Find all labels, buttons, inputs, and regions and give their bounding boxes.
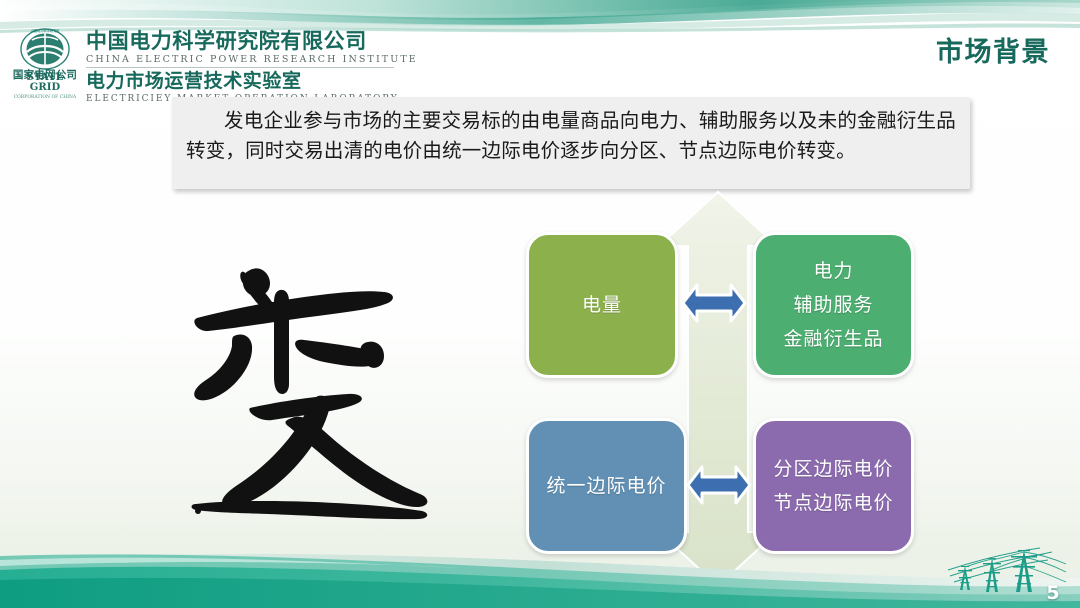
box-top-right-line-2: 金融衍生品: [783, 322, 883, 356]
box-top-right-line-0: 电力: [813, 254, 853, 288]
section-title: 市场背景: [936, 30, 1050, 69]
state-grid-globe-icon: 中国电力科学研究院: [19, 28, 71, 72]
slide-canvas: 中国电力科学研究院 国家电网公司 STATE GRID CORPORATION …: [0, 0, 1080, 608]
change-calligraphy: [172, 232, 452, 522]
double-arrow-icon-top: [680, 278, 748, 328]
paragraph-text: 发电企业参与市场的主要交易标的由电量商品向电力、辅助服务以及未的金融衍生品转变，…: [186, 106, 956, 166]
box-bottom-left-line-0: 统一边际电价: [546, 469, 666, 503]
lab-name-cn: 电力市场运营技术实验室: [86, 70, 399, 93]
box-top-left-line-0: 电量: [582, 288, 622, 322]
page-number: 5: [1038, 582, 1068, 604]
svg-text:中国电力科学研究院: 中国电力科学研究院: [31, 28, 60, 33]
state-grid-logo: 中国电力科学研究院 国家电网公司 STATE GRID CORPORATION …: [8, 28, 80, 96]
header: 中国电力科学研究院 国家电网公司 STATE GRID CORPORATION …: [8, 28, 399, 105]
box-top-right-line-1: 辅助服务: [793, 288, 873, 322]
logo-en-subtitle: CORPORATION OF CHINA: [10, 95, 80, 101]
paragraph-card: 发电企业参与市场的主要交易标的由电量商品向电力、辅助服务以及未的金融衍生品转变，…: [172, 97, 970, 189]
box-top-right[interactable]: 电力 辅助服务 金融衍生品: [753, 232, 914, 378]
org-name-en: CHINA ELECTRIC POWER RESEARCH INSTITUTE: [86, 53, 394, 68]
box-bottom-right-line-1: 节点边际电价: [773, 486, 893, 520]
bottom-wave-decoration: [0, 522, 1080, 608]
box-bottom-right-line-0: 分区边际电价: [773, 452, 893, 486]
logo-en-name: STATE GRID: [10, 73, 80, 93]
double-arrow-icon-bottom: [685, 460, 753, 510]
org-name-cn: 中国电力科学研究院有限公司: [86, 29, 399, 53]
organization-block: 中国电力科学研究院有限公司 CHINA ELECTRIC POWER RESEA…: [86, 28, 399, 105]
box-top-left[interactable]: 电量: [526, 232, 678, 378]
